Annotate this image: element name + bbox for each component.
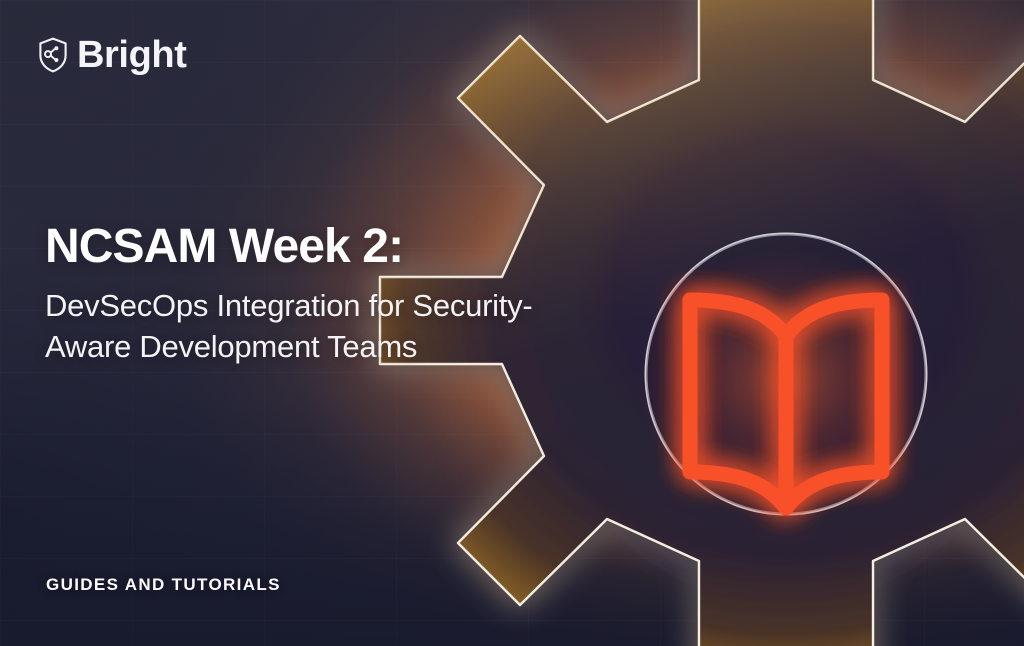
page-title: NCSAM Week 2: [45, 221, 565, 273]
brand-logo[interactable]: Bright [38, 36, 186, 74]
headline-block: NCSAM Week 2: DevSecOps Integration for … [45, 221, 565, 368]
brand-name: Bright [77, 36, 186, 74]
page-subtitle: DevSecOps Integration for Security-Aware… [45, 285, 565, 368]
category-label: GUIDES AND TUTORIALS [46, 575, 281, 595]
blog-hero-card: Bright NCSAM Week 2: DevSecOps Integrati… [0, 0, 1024, 646]
shield-network-icon [38, 37, 68, 73]
